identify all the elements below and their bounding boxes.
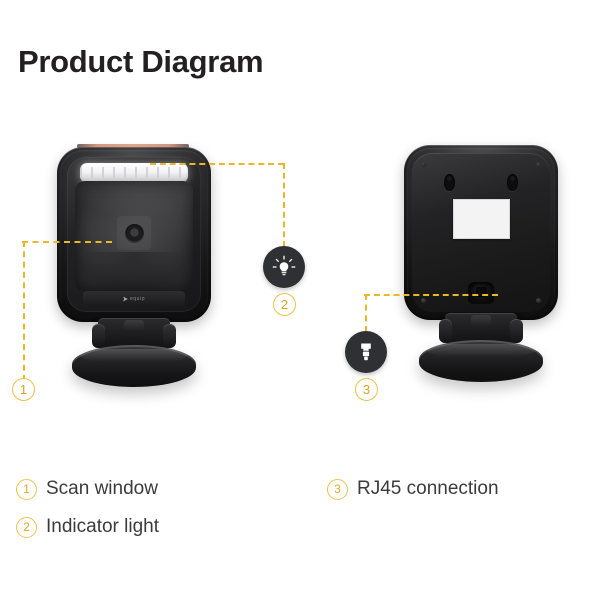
legend-marker-1: 1	[16, 479, 37, 500]
indicator-light-strip	[80, 163, 188, 183]
indicator-light-badge	[263, 246, 305, 288]
wall-mount-keyhole-left	[444, 174, 455, 191]
brand-mark-icon	[123, 297, 128, 302]
legend-label-2: Indicator light	[46, 516, 159, 538]
scanner-front-housing: equip	[57, 147, 211, 322]
scanner-back-base	[419, 340, 543, 382]
product-label	[453, 199, 510, 239]
rj45-badge	[345, 331, 387, 373]
callout-3-marker: 3	[355, 378, 378, 401]
legend-label-3: RJ45 connection	[357, 478, 499, 500]
scanner-back-panel	[412, 153, 550, 312]
scan-window-reticle	[117, 216, 151, 250]
scanner-front-view: equip	[57, 142, 211, 322]
indicator-light-icon	[271, 254, 297, 280]
callout-2-leader-vertical	[283, 163, 285, 247]
rj45-connector-icon	[353, 339, 379, 365]
callout-1-leader-vertical	[23, 241, 25, 381]
brand-text: equip	[130, 296, 145, 302]
callout-1-leader-horizontal	[22, 241, 112, 243]
wall-mount-keyhole-right	[507, 174, 518, 191]
rj45-port	[468, 282, 494, 304]
screw-bottom-left	[421, 298, 426, 303]
brand-logo: equip	[83, 291, 185, 307]
legend-right-column: 3 RJ45 connection	[327, 470, 499, 508]
page-title: Product Diagram	[18, 44, 263, 80]
legend-marker-2: 2	[16, 517, 37, 538]
product-diagram-page: Product Diagram equip	[0, 0, 600, 600]
scanner-front-base	[72, 345, 196, 387]
legend-marker-3: 3	[327, 479, 348, 500]
callout-1-marker: 1	[12, 378, 35, 401]
legend-label-1: Scan window	[46, 478, 158, 500]
scanner-front-bezel: equip	[67, 157, 201, 312]
callout-2-leader-horizontal	[150, 163, 284, 165]
scanner-front-hinge-neck	[124, 320, 144, 331]
callout-2-marker: 2	[273, 293, 296, 316]
scan-window	[75, 181, 193, 292]
diagram-canvas: equip	[0, 100, 600, 450]
screw-top-right	[536, 162, 541, 167]
callout-3-leader-vertical	[365, 294, 367, 332]
callout-3-leader-horizontal	[364, 294, 498, 296]
legend-left-column: 1 Scan window 2 Indicator light	[16, 470, 159, 546]
screw-top-left	[421, 162, 426, 167]
scanner-back-hinge-neck	[471, 315, 491, 326]
legend-item-rj45-connection: 3 RJ45 connection	[327, 470, 499, 508]
screw-bottom-right	[536, 298, 541, 303]
legend-item-scan-window: 1 Scan window	[16, 470, 159, 508]
legend-item-indicator-light: 2 Indicator light	[16, 508, 159, 546]
